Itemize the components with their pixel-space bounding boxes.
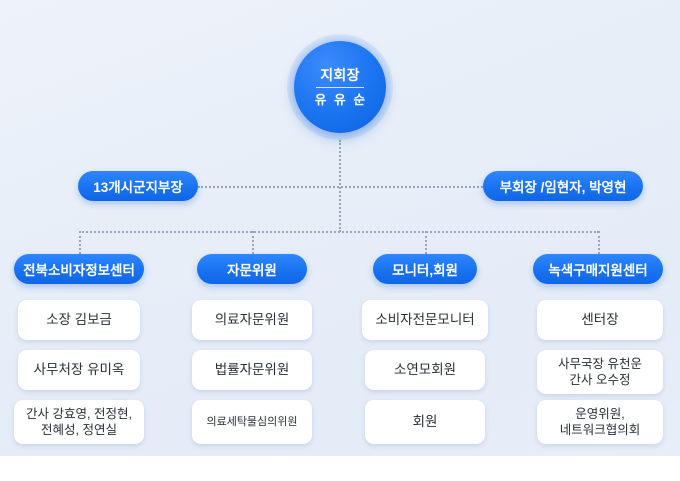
- card-line: 운영위원,: [560, 406, 641, 423]
- card-col4-row1[interactable]: 센터장: [537, 300, 663, 340]
- level2-node-branch-chiefs[interactable]: 13개시군지부장: [78, 171, 198, 201]
- card-line: 사무국장 유천운: [558, 356, 642, 373]
- column-header-label: 녹색구매지원센터: [548, 259, 647, 279]
- connector-level2-horizontal: [198, 186, 483, 188]
- card-col2-row2[interactable]: 법률자문위원: [192, 350, 312, 390]
- card-line: 회원: [413, 413, 438, 431]
- card-line: 소비자전문모니터: [375, 311, 474, 329]
- column-header-3[interactable]: 모니터,회원: [373, 254, 477, 284]
- connector-drop-col-3: [425, 231, 427, 254]
- card-col2-row1[interactable]: 의료자문위원: [192, 300, 312, 340]
- connector-columns-bus: [79, 231, 599, 233]
- level2-label: 13개시군지부장: [93, 176, 183, 196]
- level2-label: 부회장 /임현자, 박영현: [500, 176, 627, 196]
- column-header-4[interactable]: 녹색구매지원센터: [533, 254, 663, 284]
- connector-drop-col-4: [598, 231, 600, 254]
- card-line: 센터장: [581, 311, 618, 329]
- column-header-label: 모니터,회원: [392, 259, 458, 279]
- bottom-white-strip: [0, 456, 680, 481]
- card-line: 간사 오수정: [558, 372, 642, 389]
- connector-drop-col-2: [252, 231, 254, 254]
- card-line: 의료세탁물심의위원: [206, 415, 297, 430]
- column-header-2[interactable]: 자문위원: [197, 254, 307, 284]
- card-text: 운영위원, 네트워크협의회: [560, 406, 641, 439]
- connector-drop-col-1: [79, 231, 81, 254]
- card-text: 간사 강효영, 전정현, 전혜성, 정연실: [26, 406, 132, 439]
- level2-node-vice-presidents[interactable]: 부회장 /임현자, 박영현: [483, 171, 643, 201]
- card-col1-row3[interactable]: 간사 강효영, 전정현, 전혜성, 정연실: [14, 400, 144, 444]
- card-line: 네트워크협의회: [560, 422, 641, 439]
- card-line: 소연모회원: [394, 361, 456, 379]
- org-chart: 지회장 유 유 순 13개시군지부장 부회장 /임현자, 박영현 전북소비자정보…: [0, 0, 680, 481]
- card-line: 간사 강효영, 전정현,: [26, 406, 132, 423]
- root-circle: 지회장 유 유 순: [294, 41, 386, 133]
- card-line: 법률자문위원: [215, 361, 290, 379]
- card-col1-row1[interactable]: 소장 김보금: [18, 300, 140, 340]
- root-node[interactable]: 지회장 유 유 순: [287, 34, 393, 140]
- card-col3-row3[interactable]: 회원: [365, 400, 485, 444]
- card-col3-row1[interactable]: 소비자전문모니터: [362, 300, 488, 340]
- column-header-label: 전북소비자정보센터: [23, 259, 135, 279]
- card-col4-row3[interactable]: 운영위원, 네트워크협의회: [537, 400, 663, 444]
- card-col3-row2[interactable]: 소연모회원: [365, 350, 485, 390]
- card-line: 사무처장 유미옥: [34, 361, 125, 379]
- card-line: 의료자문위원: [215, 311, 290, 329]
- root-name: 유 유 순: [313, 88, 367, 107]
- card-text: 사무국장 유천운 간사 오수정: [558, 356, 642, 389]
- column-header-1[interactable]: 전북소비자정보센터: [14, 254, 144, 284]
- card-col2-row3[interactable]: 의료세탁물심의위원: [192, 400, 312, 444]
- column-header-label: 자문위원: [227, 259, 277, 279]
- card-line: 전혜성, 정연실: [26, 422, 132, 439]
- card-col4-row2[interactable]: 사무국장 유천운 간사 오수정: [537, 350, 663, 394]
- card-line: 소장 김보금: [46, 311, 112, 329]
- card-col1-row2[interactable]: 사무처장 유미옥: [18, 350, 140, 390]
- root-title: 지회장: [320, 68, 360, 87]
